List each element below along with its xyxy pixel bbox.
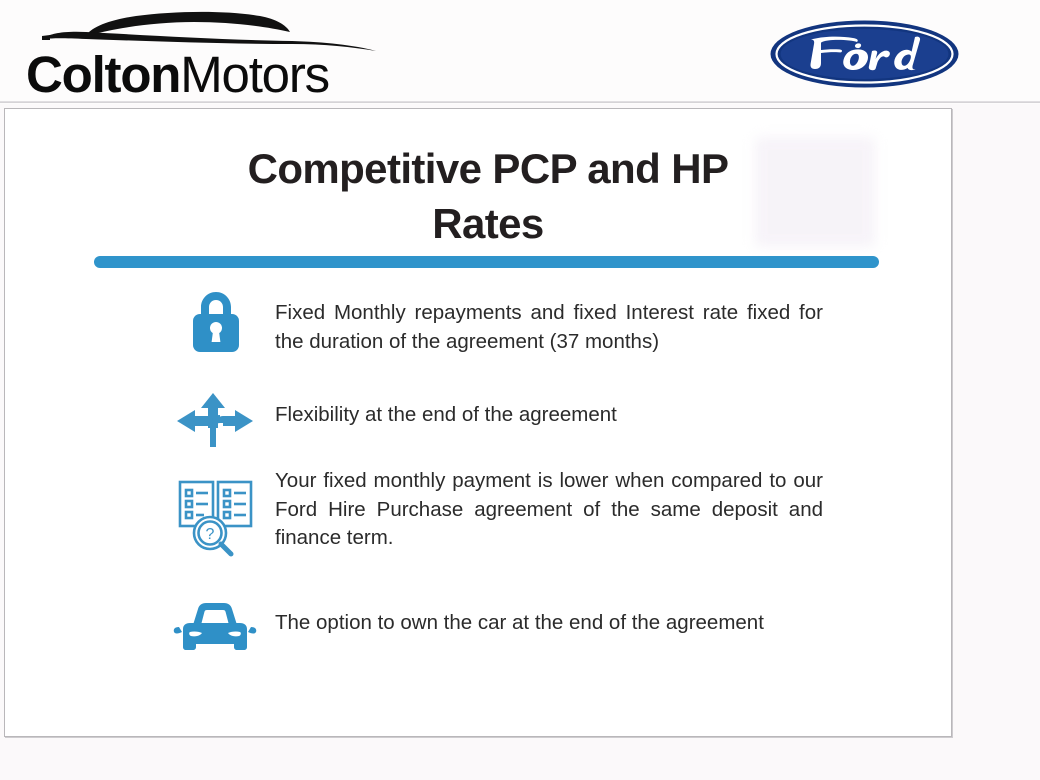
slide-title-line-2: Rates [93, 196, 883, 251]
feature-row-flexibility: Flexibility at the end of the agreement [5, 377, 953, 463]
three-way-arrows-icon [171, 391, 259, 453]
header-divider [0, 101, 1040, 103]
feature-row-fixed-rate: Fixed Monthly repayments and fixed Inter… [5, 281, 953, 377]
slide-card: Competitive PCP and HP Rates Fixed Month… [4, 108, 952, 737]
brand-name-light: Motors [180, 46, 329, 103]
ford-oval-logo[interactable] [769, 19, 960, 89]
feature-text-lower-payment: Your fixed monthly payment is lower when… [275, 467, 823, 553]
page-header: ColtonMotors [0, 0, 1040, 104]
feature-text-own-car: The option to own the car at the end of … [275, 609, 823, 638]
feature-row-own-car: The option to own the car at the end of … [5, 585, 953, 685]
feature-text-flexibility: Flexibility at the end of the agreement [275, 401, 823, 430]
colton-motors-logo[interactable]: ColtonMotors [24, 8, 384, 100]
lock-icon [171, 285, 259, 357]
feature-text-fixed-rate: Fixed Monthly repayments and fixed Inter… [275, 299, 823, 356]
title-accent-divider [94, 256, 879, 268]
car-front-icon [171, 599, 259, 659]
document-comparison-magnifier-icon: ? [171, 475, 259, 559]
brand-name-bold: Colton [26, 46, 180, 103]
slide-title-line-1: Competitive PCP and HP [93, 141, 883, 196]
feature-row-lower-payment: ? Your fixed monthly payment is lower wh… [5, 463, 953, 585]
brand-wordmark: ColtonMotors [26, 46, 384, 104]
slide-title: Competitive PCP and HP Rates [93, 141, 883, 251]
svg-text:?: ? [206, 526, 215, 543]
